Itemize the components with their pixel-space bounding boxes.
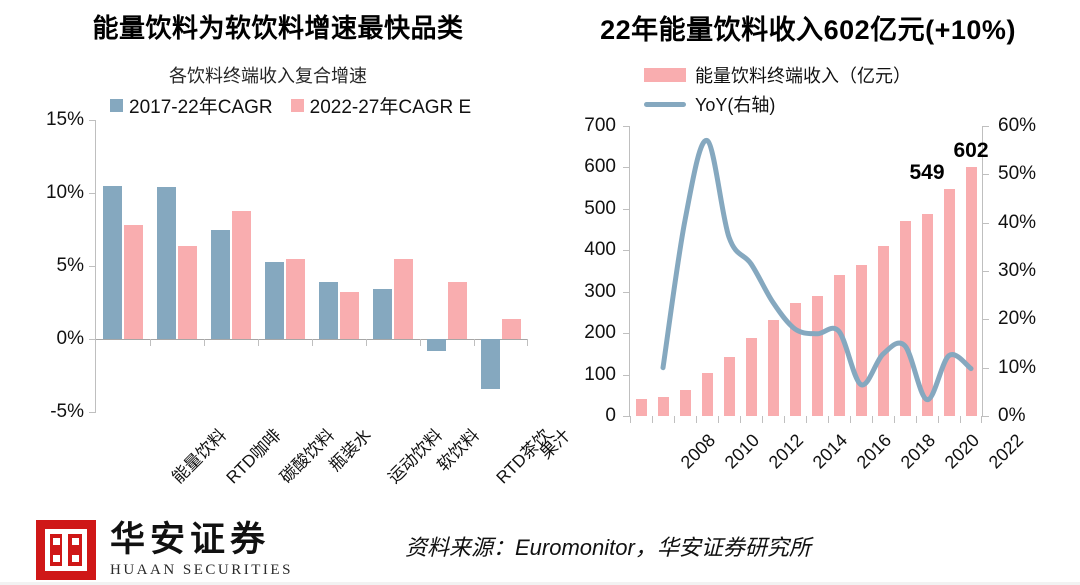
right-year-label: 2022 xyxy=(985,430,1028,473)
huaan-logo-mark-icon xyxy=(36,520,96,580)
right-left-axis-tick xyxy=(623,333,630,334)
right-data-label: 549 xyxy=(909,161,944,185)
source-attribution: 资料来源：Euromonitor，华安证券研究所 xyxy=(405,530,811,562)
left-x-tick xyxy=(366,339,367,346)
legend-swatch-revenue xyxy=(644,68,686,82)
right-x-tick xyxy=(806,416,807,423)
right-chart-plot-area: 549602 xyxy=(630,126,982,416)
right-left-axis-tick xyxy=(623,250,630,251)
right-year-label: 2018 xyxy=(897,430,940,473)
right-x-tick xyxy=(652,416,653,423)
right-year-label: 2010 xyxy=(721,430,764,473)
left-chart-legend: 2017-22年CAGR 2022-27年CAGR E xyxy=(110,92,471,119)
right-x-tick xyxy=(938,416,939,423)
right-right-axis-tick-label: 20% xyxy=(998,308,1036,330)
right-left-axis-tick xyxy=(623,167,630,168)
right-right-axis-tick-label: 60% xyxy=(998,115,1036,137)
right-x-tick xyxy=(784,416,785,423)
right-chart-x-axis-labels: 20082010201220142016201820202022 xyxy=(630,424,1010,504)
right-right-axis-tick xyxy=(982,223,989,224)
right-x-tick xyxy=(740,416,741,423)
left-x-tick xyxy=(312,339,313,346)
left-y-tick xyxy=(89,120,96,121)
legend-label-cagr-2017-22: 2017-22年CAGR xyxy=(129,92,273,119)
right-x-tick xyxy=(850,416,851,423)
left-chart-plot-area xyxy=(96,120,528,412)
right-left-axis-tick-label: 300 xyxy=(584,281,616,303)
right-x-tick xyxy=(916,416,917,423)
slide-page: 能量饮料为软饮料增速最快品类 22年能量饮料收入602亿元(+10%) 各饮料终… xyxy=(0,0,1080,585)
left-y-tick-label: 0% xyxy=(57,328,84,350)
right-left-axis-tick xyxy=(623,126,630,127)
left-bar-cagr-2022-27 xyxy=(502,319,521,339)
left-y-tick-label: 15% xyxy=(46,109,84,131)
right-x-tick xyxy=(630,416,631,423)
right-right-axis-tick xyxy=(982,126,989,127)
legend-label-revenue: 能量饮料终端收入（亿元） xyxy=(695,62,911,88)
right-year-label: 2012 xyxy=(765,430,808,473)
right-x-tick xyxy=(762,416,763,423)
legend-label-cagr-2022-27: 2022-27年CAGR E xyxy=(310,92,472,119)
left-bar-cagr-2017-22 xyxy=(265,262,284,339)
left-bar-cagr-2017-22 xyxy=(103,186,122,339)
left-panel-title: 能量饮料为软饮料增速最快品类 xyxy=(28,8,528,45)
left-chart-subtitle: 各饮料终端收入复合增速 xyxy=(18,62,518,88)
right-chart-left-axis-labels: 0100200300400500600700 xyxy=(548,126,624,416)
logo-chinese-name: 华安证券 xyxy=(110,522,293,557)
right-chart-right-axis-labels: 0%10%20%30%40%50%60% xyxy=(988,126,1068,416)
right-x-tick xyxy=(828,416,829,423)
left-y-tick-label: -5% xyxy=(50,401,84,423)
right-x-tick xyxy=(674,416,675,423)
left-chart-category-labels: 能量饮料RTD咖啡碳酸饮料瓶装水运动饮料软饮料RTD茶饮果汁 xyxy=(96,414,536,514)
right-left-axis-tick xyxy=(623,375,630,376)
legend-item-revenue: 能量饮料终端收入（亿元） xyxy=(644,62,911,88)
legend-item-cagr-2017-22: 2017-22年CAGR xyxy=(110,92,273,119)
left-category-label: RTD咖啡 xyxy=(219,422,285,488)
logo-text-block: 华安证券 HUAAN SECURITIES xyxy=(110,522,293,578)
legend-swatch-blue xyxy=(110,99,123,112)
right-left-axis-tick-label: 700 xyxy=(584,115,616,137)
right-year-label: 2020 xyxy=(941,430,984,473)
legend-item-yoy: YoY(右轴) xyxy=(644,91,911,117)
right-right-axis-tick xyxy=(982,368,989,369)
left-y-tick xyxy=(89,193,96,194)
right-year-label: 2008 xyxy=(677,430,720,473)
right-x-tick xyxy=(696,416,697,423)
left-y-tick-label: 10% xyxy=(46,182,84,204)
left-x-tick xyxy=(420,339,421,346)
right-right-axis-tick-label: 10% xyxy=(998,357,1036,379)
left-y-tick xyxy=(89,266,96,267)
right-x-tick xyxy=(894,416,895,423)
left-chart-y-axis-labels: -5%0%5%10%15% xyxy=(18,120,92,412)
right-left-axis-tick-label: 500 xyxy=(584,198,616,220)
right-right-axis-tick xyxy=(982,319,989,320)
right-left-axis-tick-label: 100 xyxy=(584,364,616,386)
left-bar-cagr-2017-22 xyxy=(157,187,176,339)
right-data-label: 602 xyxy=(953,139,988,163)
right-year-label: 2014 xyxy=(809,430,852,473)
left-bar-cagr-2022-27 xyxy=(178,246,197,339)
legend-item-cagr-2022-27: 2022-27年CAGR E xyxy=(291,92,472,119)
right-x-tick xyxy=(960,416,961,423)
left-x-tick xyxy=(150,339,151,346)
left-y-tick-label: 5% xyxy=(57,255,84,277)
left-bar-cagr-2017-22 xyxy=(211,230,230,340)
left-y-tick xyxy=(89,339,96,340)
right-panel-title: 22年能量饮料收入602亿元(+10%) xyxy=(548,8,1068,47)
left-bar-cagr-2022-27 xyxy=(124,225,143,339)
left-bar-cagr-2022-27 xyxy=(286,259,305,339)
left-x-tick xyxy=(204,339,205,346)
right-x-tick xyxy=(872,416,873,423)
legend-label-yoy: YoY(右轴) xyxy=(695,91,775,117)
left-bar-cagr-2022-27 xyxy=(340,292,359,339)
right-left-axis-tick xyxy=(623,209,630,210)
left-bar-cagr-2017-22 xyxy=(427,339,446,351)
right-chart: 能量饮料终端收入（亿元） YoY(右轴) 0100200300400500600… xyxy=(548,58,1068,513)
right-year-label: 2016 xyxy=(853,430,896,473)
left-bar-cagr-2017-22 xyxy=(319,282,338,339)
right-left-axis-tick xyxy=(623,416,630,417)
huaan-securities-logo: 华安证券 HUAAN SECURITIES xyxy=(36,520,293,580)
right-x-tick xyxy=(981,416,982,423)
right-left-axis-tick-label: 0 xyxy=(605,405,616,427)
left-chart: 各饮料终端收入复合增速 2017-22年CAGR 2022-27年CAGR E … xyxy=(18,62,538,507)
right-left-axis-tick-label: 600 xyxy=(584,156,616,178)
right-left-axis-tick xyxy=(623,292,630,293)
right-x-tick xyxy=(718,416,719,423)
legend-line-yoy xyxy=(644,102,686,107)
left-bar-cagr-2017-22 xyxy=(481,339,500,389)
left-category-label: 能量饮料 xyxy=(165,422,231,488)
right-right-axis-tick xyxy=(982,174,989,175)
left-x-tick xyxy=(474,339,475,346)
left-x-tick xyxy=(527,339,528,346)
right-left-axis-tick-label: 200 xyxy=(584,322,616,344)
left-bar-cagr-2022-27 xyxy=(232,211,251,339)
logo-english-name: HUAAN SECURITIES xyxy=(110,563,293,578)
right-right-axis-tick xyxy=(982,416,989,417)
right-right-axis-tick-label: 30% xyxy=(998,260,1036,282)
right-right-axis-tick-label: 50% xyxy=(998,163,1036,185)
left-x-tick xyxy=(258,339,259,346)
left-bar-cagr-2022-27 xyxy=(448,282,467,339)
right-right-axis-tick-label: 40% xyxy=(998,212,1036,234)
left-bar-cagr-2022-27 xyxy=(394,259,413,339)
left-y-tick xyxy=(89,412,96,413)
legend-swatch-pink xyxy=(291,99,304,112)
right-left-axis-tick-label: 400 xyxy=(584,239,616,261)
right-right-axis-tick xyxy=(982,271,989,272)
left-bar-cagr-2017-22 xyxy=(373,289,392,339)
right-chart-legend: 能量饮料终端收入（亿元） YoY(右轴) xyxy=(644,62,911,120)
